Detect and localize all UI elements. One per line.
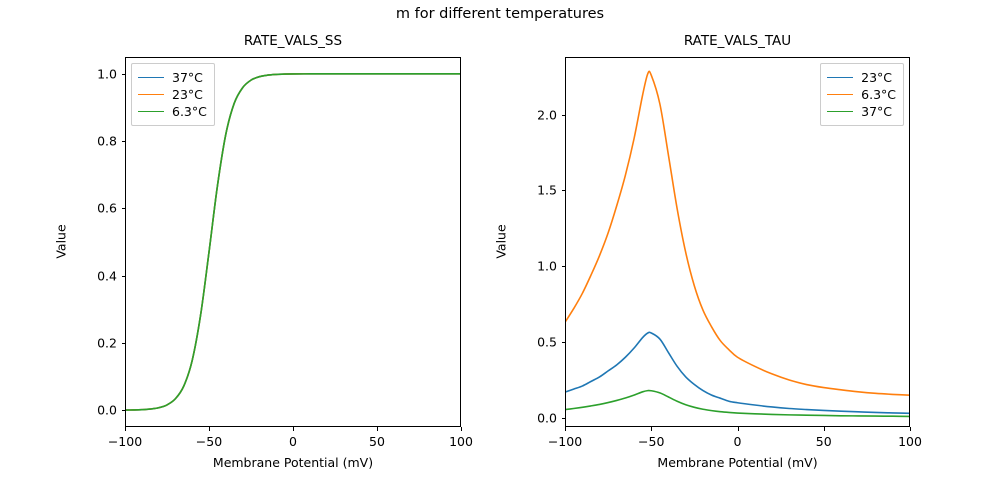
x-tickmark — [738, 427, 739, 431]
y-tickmark — [562, 190, 566, 191]
legend-entry: 37°C — [827, 103, 896, 120]
x-tickmark — [910, 427, 911, 431]
y-axis-label-right: Value — [494, 57, 509, 427]
x-tick-label: 50 — [816, 434, 832, 449]
y-tick-label: 1.0 — [511, 259, 557, 274]
y-tick-label: 0.6 — [71, 201, 117, 216]
y-tick-label: 1.5 — [511, 183, 557, 198]
legend-label: 6.3°C — [172, 104, 207, 119]
x-tick-label: 100 — [449, 434, 473, 449]
y-tick-label: 0.0 — [511, 410, 557, 425]
legend-label: 37°C — [172, 70, 203, 85]
x-tickmark — [377, 427, 378, 431]
x-tick-label: −50 — [638, 434, 664, 449]
subplot-rate-vals-ss: RATE_VALS_SS −100−500501000.00.20.40.60.… — [125, 57, 461, 427]
y-tickmark — [562, 342, 566, 343]
y-tick-label: 0.0 — [71, 403, 117, 418]
legend-line-swatch — [827, 94, 853, 95]
y-tickmark — [562, 266, 566, 267]
legend-entry: 6.3°C — [138, 103, 207, 120]
y-tickmark — [122, 141, 126, 142]
y-tickmark — [122, 276, 126, 277]
legend-right[interactable]: 23°C6.3°C37°C — [820, 63, 904, 126]
y-tick-label: 0.4 — [71, 268, 117, 283]
legend-line-swatch — [138, 111, 164, 112]
legend-label: 23°C — [172, 87, 203, 102]
y-tickmark — [122, 208, 126, 209]
legend-label: 23°C — [861, 70, 892, 85]
x-tick-label: 50 — [369, 434, 385, 449]
legend-entry: 37°C — [138, 69, 207, 86]
x-axis-label-left: Membrane Potential (mV) — [125, 455, 461, 470]
x-tick-label: −100 — [548, 434, 582, 449]
legend-label: 37°C — [861, 104, 892, 119]
y-tick-label: 0.8 — [71, 134, 117, 149]
y-tick-label: 2.0 — [511, 107, 557, 122]
y-tickmark — [122, 74, 126, 75]
subplot-rate-vals-tau: RATE_VALS_TAU −100−500501000.00.51.01.52… — [565, 57, 910, 427]
legend-label: 6.3°C — [861, 87, 896, 102]
x-tickmark — [209, 427, 210, 431]
x-tick-label: −100 — [108, 434, 142, 449]
x-tickmark — [461, 427, 462, 431]
x-tick-label: −50 — [196, 434, 222, 449]
y-axis-label-left: Value — [54, 57, 69, 427]
legend-entry: 6.3°C — [827, 86, 896, 103]
y-tickmark — [122, 343, 126, 344]
legend-line-swatch — [138, 94, 164, 95]
y-tick-label: 0.5 — [511, 335, 557, 350]
subplot-title-right: RATE_VALS_TAU — [565, 33, 910, 49]
x-tickmark — [651, 427, 652, 431]
y-tickmark — [562, 115, 566, 116]
legend-line-swatch — [827, 111, 853, 112]
x-tick-label: 100 — [898, 434, 922, 449]
figure-suptitle: m for different temperatures — [0, 6, 1000, 22]
legend-left[interactable]: 37°C23°C6.3°C — [131, 63, 215, 126]
y-tick-label: 1.0 — [71, 66, 117, 81]
x-tickmark — [293, 427, 294, 431]
subplot-title-left: RATE_VALS_SS — [125, 33, 461, 49]
x-tick-label: 0 — [289, 434, 297, 449]
y-tickmark — [122, 410, 126, 411]
matplotlib-figure: m for different temperatures RATE_VALS_S… — [0, 0, 1000, 500]
legend-entry: 23°C — [138, 86, 207, 103]
legend-entry: 23°C — [827, 69, 896, 86]
x-tick-label: 0 — [734, 434, 742, 449]
legend-line-swatch — [827, 77, 853, 78]
legend-line-swatch — [138, 77, 164, 78]
y-tickmark — [562, 418, 566, 419]
x-tickmark — [824, 427, 825, 431]
x-axis-label-right: Membrane Potential (mV) — [565, 455, 910, 470]
x-tickmark — [125, 427, 126, 431]
x-tickmark — [565, 427, 566, 431]
y-tick-label: 0.2 — [71, 335, 117, 350]
